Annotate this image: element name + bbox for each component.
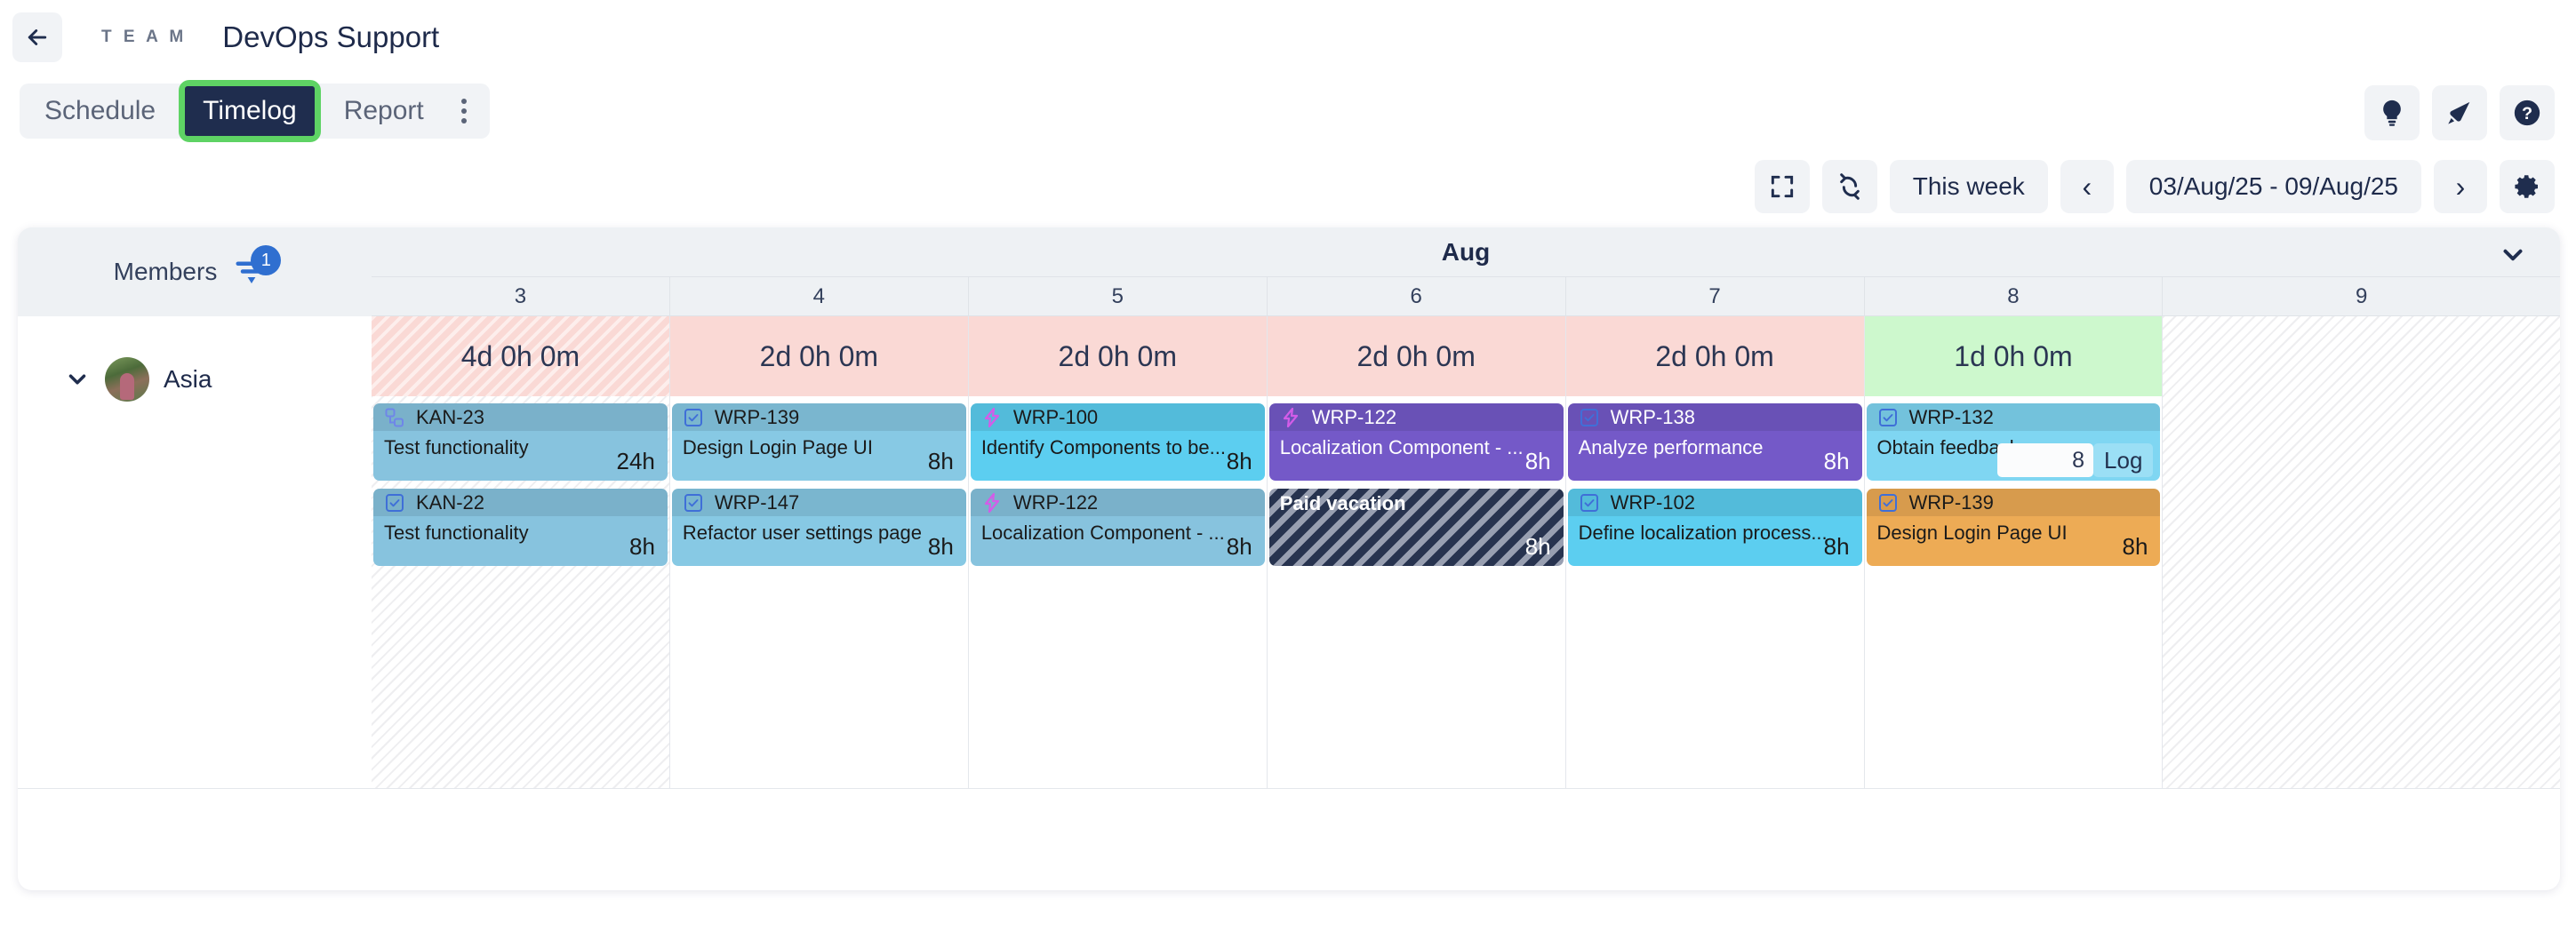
- card-key-row: WRP-139: [672, 403, 966, 431]
- lightbulb-button[interactable]: [2364, 85, 2420, 140]
- megaphone-icon: [2444, 98, 2475, 128]
- card-key-row: WRP-138: [1568, 403, 1862, 431]
- expand-member-icon[interactable]: [64, 366, 91, 393]
- day-column-8[interactable]: 1d 0h 0mWRP-132Obtain feedbackLogWRP-139…: [1865, 316, 2164, 788]
- card-title: Refactor user settings page: [672, 516, 966, 545]
- help-button[interactable]: ?: [2500, 85, 2555, 140]
- card-key-row: WRP-122: [1269, 403, 1564, 431]
- card-key: WRP-132: [1909, 406, 1994, 429]
- timelog-card[interactable]: KAN-23Test functionality24h: [373, 403, 668, 481]
- next-period-button[interactable]: ›: [2434, 160, 2487, 213]
- day-column-9[interactable]: [2163, 316, 2560, 788]
- day-header-8: 8: [1865, 277, 2164, 315]
- card-key-row: WRP-102: [1568, 489, 1862, 516]
- subtask-icon: [384, 407, 405, 428]
- team-label: T E A M: [101, 28, 187, 47]
- refresh-icon: [1836, 172, 1864, 201]
- card-hours: 8h: [928, 448, 954, 475]
- timelog-card[interactable]: WRP-102Define localization process...8h: [1568, 489, 1862, 566]
- day-column-4[interactable]: 2d 0h 0mWRP-139Design Login Page UI8hWRP…: [670, 316, 969, 788]
- day-header-5: 5: [969, 277, 1268, 315]
- member-name: Asia: [164, 365, 212, 394]
- timelog-card[interactable]: WRP-139Design Login Page UI8h: [1867, 489, 2161, 566]
- checkbox-icon: [1579, 492, 1600, 514]
- checkbox-icon: [384, 492, 405, 514]
- fullscreen-icon: [1768, 172, 1796, 201]
- card-title: Paid vacation: [1269, 489, 1564, 515]
- day-header-4: 4: [670, 277, 969, 315]
- card-hours: 8h: [1227, 533, 1252, 561]
- members-label: Members: [114, 258, 218, 286]
- card-hours: 8h: [1227, 448, 1252, 475]
- card-stack-6: WRP-122Localization Component - ...8hPai…: [1268, 403, 1565, 574]
- tab-timelog[interactable]: Timelog: [185, 86, 315, 136]
- bolt-icon: [981, 407, 1003, 428]
- day-total-6: 2d 0h 0m: [1268, 316, 1565, 396]
- checkbox-icon: [1877, 492, 1899, 514]
- day-header-3: 3: [372, 277, 670, 315]
- card-key: WRP-102: [1611, 491, 1695, 514]
- card-title: Identify Components to be...: [971, 431, 1265, 459]
- back-button[interactable]: [12, 12, 62, 62]
- card-title: Analyze performance: [1568, 431, 1862, 459]
- card-hours: 24h: [617, 448, 655, 475]
- card-key-row: WRP-100: [971, 403, 1265, 431]
- members-header: Members 1: [18, 227, 372, 316]
- day-total-7: 2d 0h 0m: [1566, 316, 1864, 396]
- day-header-6: 6: [1268, 277, 1566, 315]
- card-key: WRP-122: [1013, 491, 1098, 514]
- day-total-3: 4d 0h 0m: [372, 316, 669, 396]
- month-label: Aug: [372, 227, 2560, 277]
- card-title: Design Login Page UI: [672, 431, 966, 459]
- bolt-icon: [1280, 407, 1301, 428]
- card-hours: 8h: [629, 533, 655, 561]
- date-range-display[interactable]: 03/Aug/25 - 09/Aug/25: [2126, 160, 2421, 213]
- day-header-row: 3456789: [372, 277, 2560, 316]
- day-total-4: 2d 0h 0m: [670, 316, 968, 396]
- card-key-row: WRP-139: [1867, 489, 2161, 516]
- announcements-button[interactable]: [2432, 85, 2487, 140]
- card-key-row: KAN-22: [373, 489, 668, 516]
- fullscreen-button[interactable]: [1755, 160, 1810, 213]
- day-column-6[interactable]: 2d 0h 0mWRP-122Localization Component - …: [1268, 316, 1566, 788]
- day-total-8: 1d 0h 0m: [1865, 316, 2163, 396]
- this-week-button[interactable]: This week: [1890, 160, 2048, 213]
- card-title: Test functionality: [373, 516, 668, 545]
- refresh-button[interactable]: [1822, 160, 1877, 213]
- day-column-7[interactable]: 2d 0h 0mWRP-138Analyze performance8hWRP-…: [1566, 316, 1865, 788]
- card-key: WRP-138: [1611, 406, 1695, 429]
- help-icon: ?: [2512, 98, 2542, 128]
- date-toolbar: This week ‹ 03/Aug/25 - 09/Aug/25 ›: [1755, 160, 2555, 213]
- card-hours: 8h: [928, 533, 954, 561]
- day-total-5: 2d 0h 0m: [969, 316, 1267, 396]
- timelog-card[interactable]: WRP-147Refactor user settings page8h: [672, 489, 966, 566]
- day-column-3[interactable]: 4d 0h 0mKAN-23Test functionality24hKAN-2…: [372, 316, 670, 788]
- card-title: Design Login Page UI: [1867, 516, 2161, 545]
- card-title: Localization Component - ...: [971, 516, 1265, 545]
- timelog-card[interactable]: WRP-122Localization Component - ...8h: [971, 489, 1265, 566]
- card-title: Define localization process...: [1568, 516, 1862, 545]
- card-title: Localization Component - ...: [1269, 431, 1564, 459]
- card-hours: 8h: [1525, 533, 1551, 561]
- card-key-row: WRP-132: [1867, 403, 2161, 431]
- collapse-month-button[interactable]: [2498, 240, 2528, 275]
- card-key-row: WRP-147: [672, 489, 966, 516]
- day-column-5[interactable]: 2d 0h 0mWRP-100Identify Components to be…: [969, 316, 1268, 788]
- page-title: DevOps Support: [222, 20, 439, 54]
- card-hours: 8h: [1525, 448, 1551, 475]
- app-header: T E A M DevOps Support: [0, 0, 2576, 75]
- card-hours: 8h: [1824, 448, 1850, 475]
- tab-report[interactable]: Report: [324, 84, 444, 139]
- view-tabs: Schedule Timelog Report: [20, 78, 490, 144]
- day-header-7: 7: [1566, 277, 1865, 315]
- member-info-cell: Asia: [18, 316, 372, 788]
- header-actions: ?: [2364, 85, 2555, 140]
- checkbox-icon: [1877, 407, 1899, 428]
- log-time-row: Log: [1997, 443, 2153, 477]
- bolt-icon: [981, 492, 1003, 514]
- timelog-card[interactable]: WRP-132Obtain feedbackLog: [1867, 403, 2161, 481]
- chevron-down-icon: [2498, 240, 2528, 270]
- tab-timelog-highlight: Timelog: [179, 80, 321, 142]
- filter-button[interactable]: 1: [233, 252, 276, 291]
- checkbox-icon: [683, 492, 704, 514]
- kebab-menu-icon[interactable]: [444, 84, 484, 139]
- card-stack-7: WRP-138Analyze performance8hWRP-102Defin…: [1566, 403, 1864, 574]
- card-key: WRP-100: [1013, 406, 1098, 429]
- tab-schedule[interactable]: Schedule: [25, 84, 175, 139]
- card-key: WRP-139: [1909, 491, 1994, 514]
- day-columns: 4d 0h 0mKAN-23Test functionality24hKAN-2…: [372, 316, 2560, 788]
- timelog-card[interactable]: WRP-100Identify Components to be...8h: [971, 403, 1265, 481]
- card-key: WRP-139: [715, 406, 799, 429]
- lightbulb-icon: [2377, 98, 2407, 128]
- card-key-row: KAN-23: [373, 403, 668, 431]
- member-row: Asia 4d 0h 0mKAN-23Test functionality24h…: [18, 316, 2560, 789]
- timelog-card[interactable]: KAN-22Test functionality8h: [373, 489, 668, 566]
- card-stack-4: WRP-139Design Login Page UI8hWRP-147Refa…: [670, 403, 968, 574]
- checkbox-icon: [1579, 407, 1600, 428]
- gear-icon: [2513, 172, 2541, 201]
- card-stack-8: WRP-132Obtain feedbackLogWRP-139Design L…: [1865, 403, 2163, 574]
- card-hours: 8h: [1824, 533, 1850, 561]
- log-button[interactable]: Log: [2093, 443, 2153, 477]
- filter-count-badge: 1: [251, 245, 281, 275]
- settings-button[interactable]: [2500, 160, 2555, 213]
- checkbox-icon: [683, 407, 704, 428]
- card-hours: 8h: [2123, 533, 2148, 561]
- card-stack-5: WRP-100Identify Components to be...8hWRP…: [969, 403, 1267, 574]
- avatar: [105, 357, 149, 402]
- card-key: KAN-22: [416, 491, 484, 514]
- card-key: WRP-147: [715, 491, 799, 514]
- arrow-left-icon: [24, 24, 51, 51]
- card-stack-3: KAN-23Test functionality24hKAN-22Test fu…: [372, 403, 669, 574]
- timelog-grid-panel: Members 1 Aug 3456789: [18, 227, 2560, 890]
- card-key: KAN-23: [416, 406, 484, 429]
- card-key: WRP-122: [1312, 406, 1396, 429]
- timelog-card[interactable]: Paid vacation8h: [1269, 489, 1564, 566]
- day-header-9: 9: [2163, 277, 2560, 315]
- card-key-row: WRP-122: [971, 489, 1265, 516]
- timelog-card[interactable]: WRP-138Analyze performance8h: [1568, 403, 1862, 481]
- timelog-card[interactable]: WRP-139Design Login Page UI8h: [672, 403, 966, 481]
- svg-text:?: ?: [2522, 104, 2532, 123]
- timelog-card[interactable]: WRP-122Localization Component - ...8h: [1269, 403, 1564, 481]
- log-hours-input[interactable]: [1997, 443, 2093, 477]
- prev-period-button[interactable]: ‹: [2060, 160, 2114, 213]
